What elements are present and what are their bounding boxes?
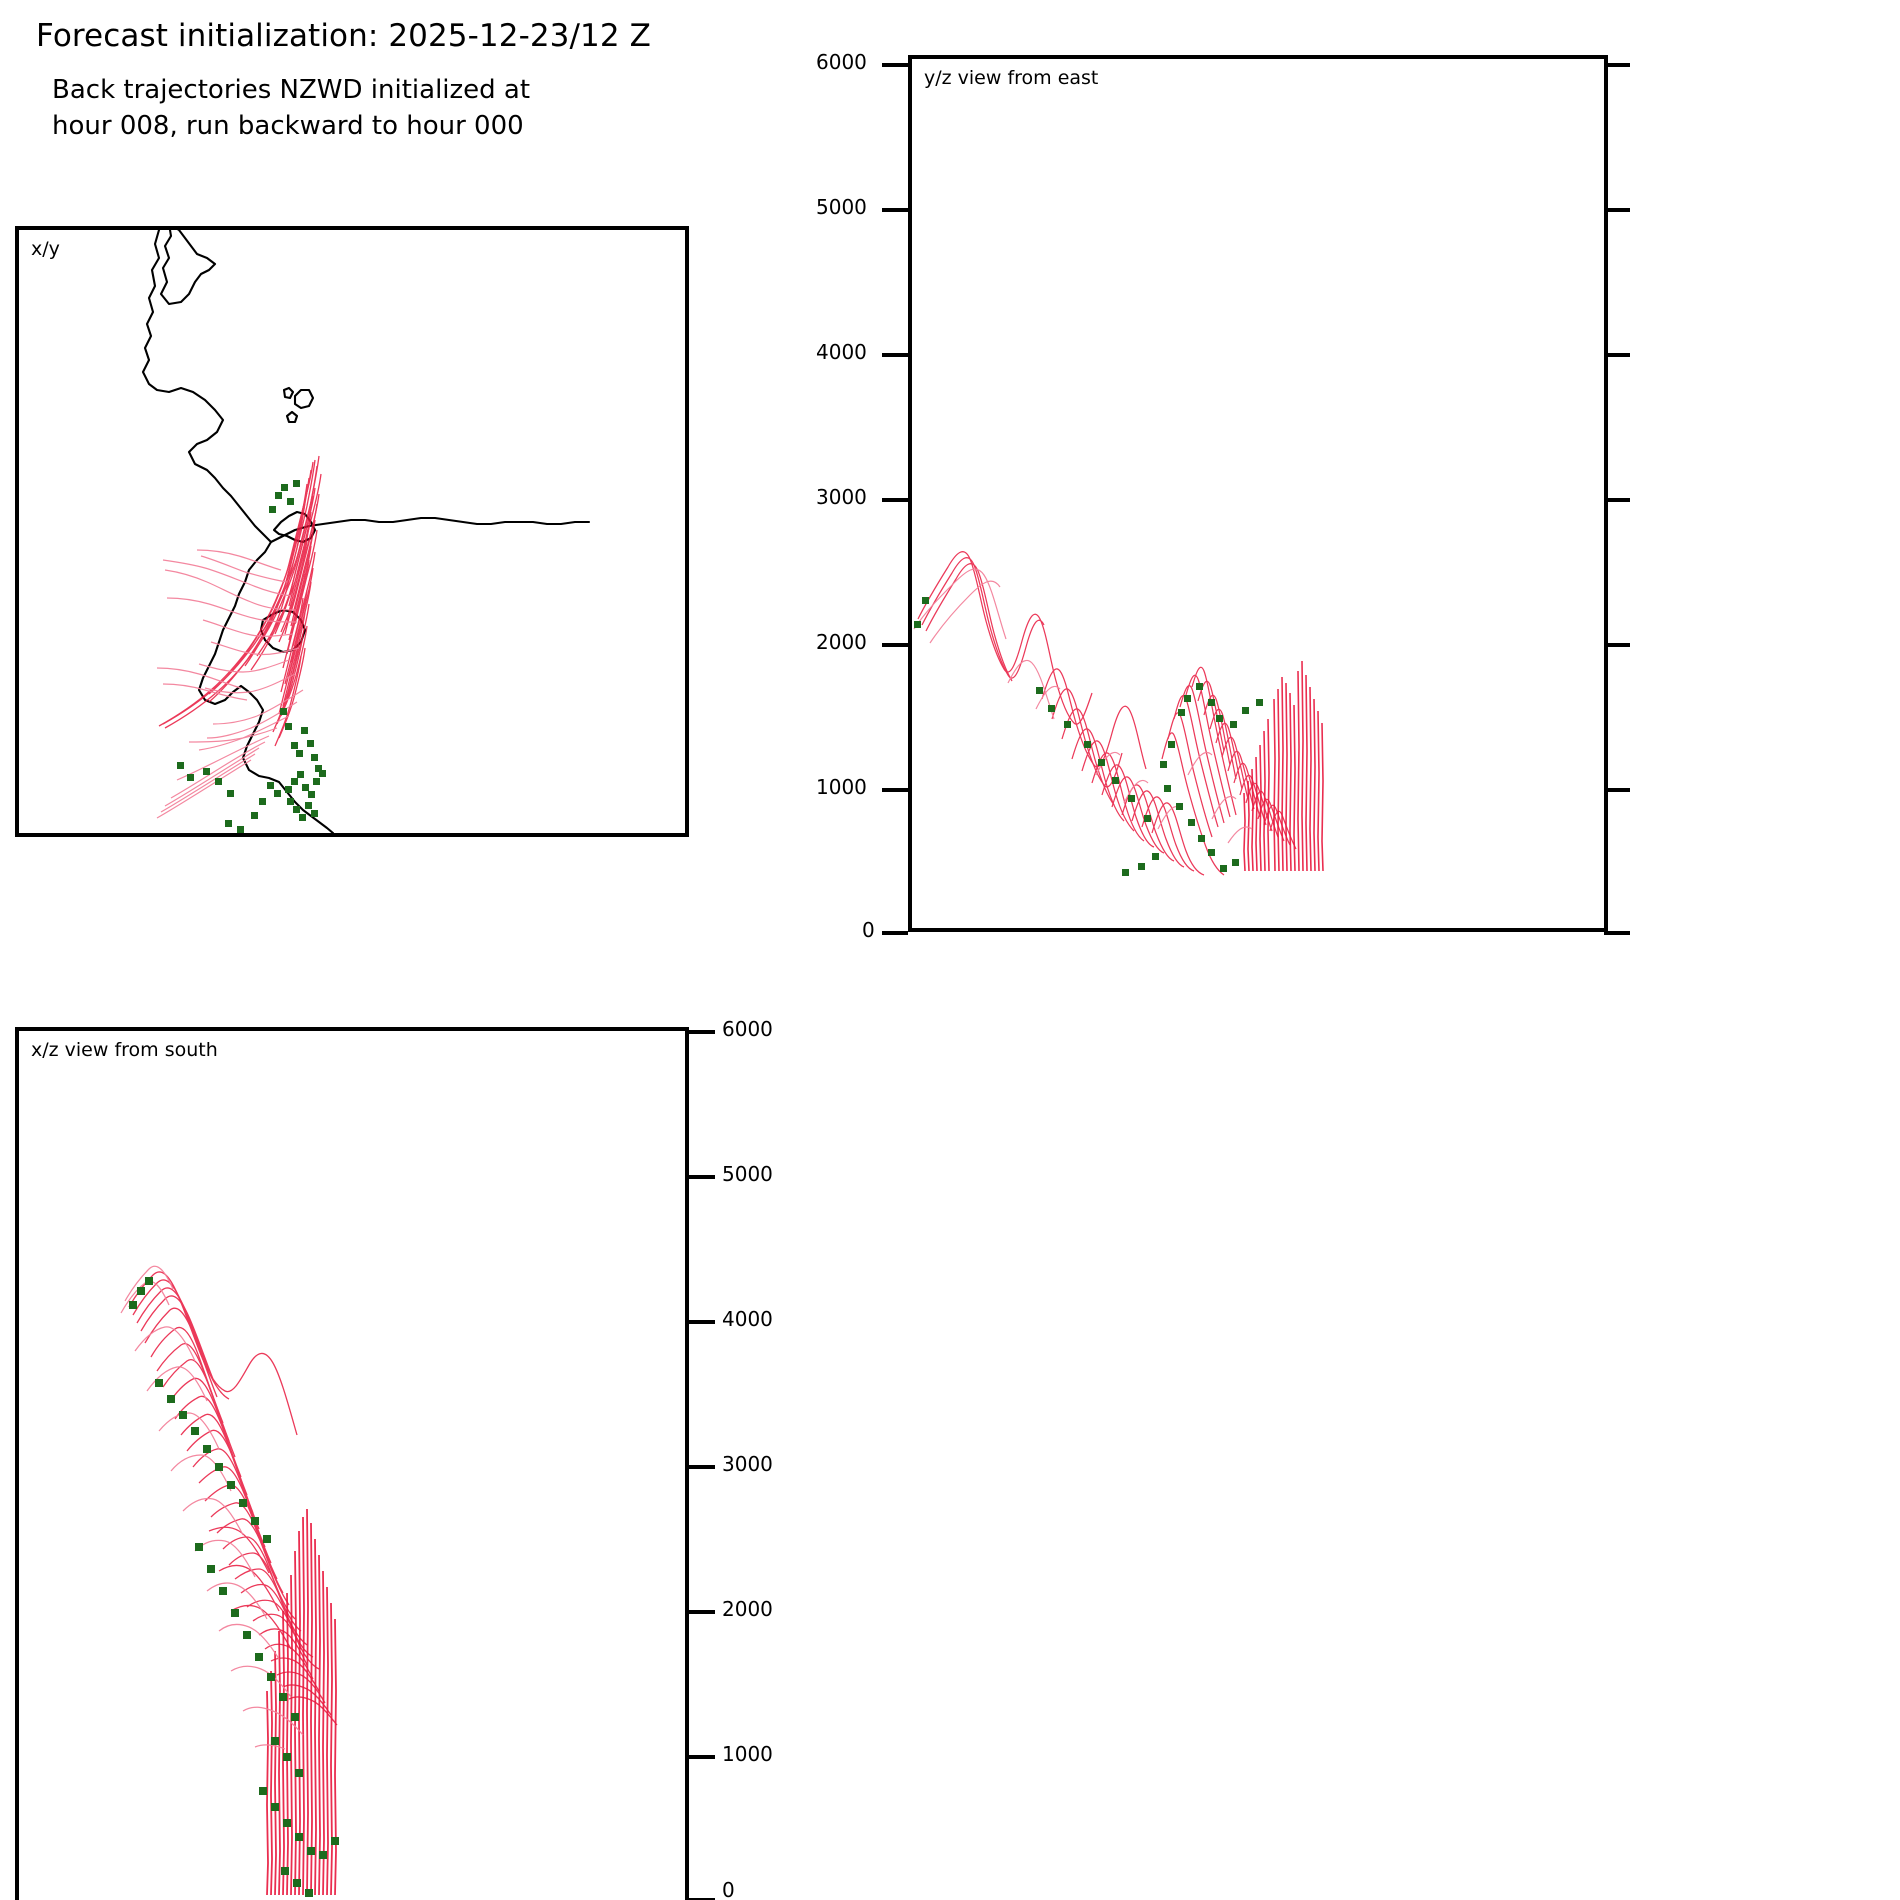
yz-tick-4000 [882,353,908,357]
xz-ticklabel-6000: 6000 [722,1019,773,1039]
xz-tick-3000 [689,1465,715,1469]
xz-tick-5000 [689,1175,715,1179]
panel-yz-label: y/z view from east [924,67,1098,89]
xz-tick-4000 [689,1320,715,1324]
yz-tick-0 [882,931,908,935]
trajectory-figure: Forecast initialization: 2025-12-23/12 Z… [0,0,1900,1900]
xz-ticklabel-4000: 4000 [722,1309,773,1329]
yz-ticklabel-6000: 6000 [816,52,867,72]
xz-ticklabel-3000: 3000 [722,1454,773,1474]
yz-right-tick-4000 [1604,353,1630,357]
xz-ticklabel-5000: 5000 [722,1164,773,1184]
panel-yz[interactable]: y/z view from east [908,55,1608,932]
panel-xy[interactable]: x/y [15,226,689,837]
yz-ticklabel-4000: 4000 [816,342,867,362]
yz-right-tick-2000 [1604,643,1630,647]
coastline-path [143,230,589,833]
page-subtitle: Back trajectories NZWD initialized at ho… [52,72,530,144]
panel-xz-label: x/z view from south [31,1039,218,1061]
trajectory-lines-yz [918,552,1296,875]
xz-tick-2000 [689,1610,715,1614]
xz-ticklabel-0: 0 [722,1880,735,1900]
panel-xy-label: x/y [31,238,60,260]
xz-tick-1000 [689,1755,715,1759]
panel-yz-plot [912,59,1604,928]
yz-right-tick-0 [1604,931,1630,935]
yz-right-tick-6000 [1604,63,1630,67]
yz-ticklabel-5000: 5000 [816,197,867,217]
yz-ticklabel-3000: 3000 [816,487,867,507]
yz-tick-6000 [882,63,908,67]
xz-ticklabel-2000: 2000 [722,1599,773,1619]
page-title: Forecast initialization: 2025-12-23/12 Z [36,18,651,54]
panel-xz[interactable]: x/z view from south [15,1027,689,1900]
yz-tick-1000 [882,788,908,792]
trajectory-lines-xz [129,1272,337,1725]
trajectory-lines-xy-faint [157,550,303,818]
yz-tick-2000 [882,643,908,647]
panel-xy-plot [19,230,685,833]
yz-ticklabel-1000: 1000 [816,777,867,797]
yz-tick-3000 [882,498,908,502]
yz-ticklabel-0: 0 [862,920,875,940]
yz-right-tick-1000 [1604,788,1630,792]
yz-tick-5000 [882,208,908,212]
yz-ticklabel-2000: 2000 [816,632,867,652]
panel-xz-plot [19,1031,685,1900]
yz-right-tick-5000 [1604,208,1630,212]
yz-right-tick-3000 [1604,498,1630,502]
xz-tick-6000 [689,1030,715,1034]
xz-ticklabel-1000: 1000 [722,1744,773,1764]
